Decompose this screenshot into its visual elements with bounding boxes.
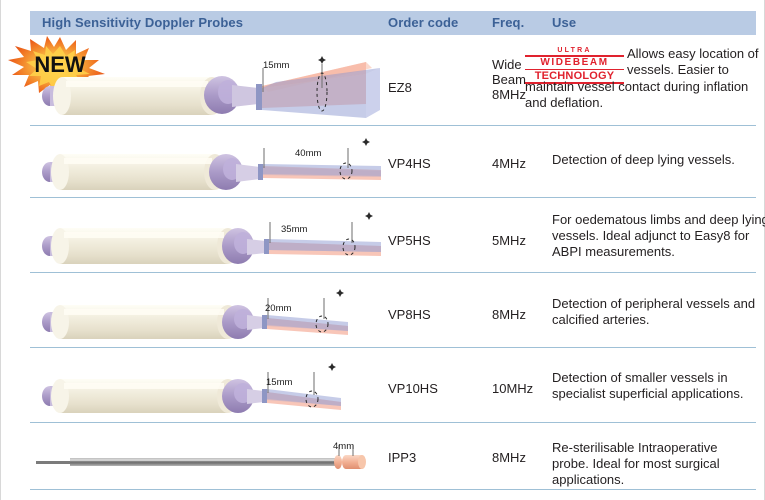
row-divider-6 bbox=[30, 489, 756, 490]
order-code-vp10hs: VP10HS bbox=[388, 382, 438, 395]
probe-illustration-vp4hs bbox=[36, 136, 386, 198]
probe-illustration-vp5hs bbox=[36, 210, 386, 272]
dimension-label-vp4hs: 40mm bbox=[295, 148, 321, 159]
table-title: High Sensitivity Doppler Probes bbox=[42, 15, 243, 30]
row-divider-5 bbox=[30, 422, 756, 423]
column-header-freq: Freq. bbox=[492, 15, 524, 30]
dimension-label-ez8: 15mm bbox=[263, 60, 289, 71]
freq-vp8hs: 8MHz bbox=[492, 308, 526, 321]
use-vp5hs: For oedematous limbs and deep lying vess… bbox=[552, 212, 765, 260]
logo-line-widebeam: WIDEBEAM bbox=[525, 57, 624, 69]
row-divider-1 bbox=[30, 125, 756, 126]
use-ipp3: Re-sterilisable Intraoperative probe. Id… bbox=[552, 440, 757, 488]
dimension-label-vp8hs: 20mm bbox=[265, 303, 291, 314]
order-code-ipp3: IPP3 bbox=[388, 451, 416, 464]
page-left-edge bbox=[0, 0, 1, 500]
probe-illustration-vp10hs bbox=[36, 362, 386, 422]
freq-vp10hs: 10MHz bbox=[492, 382, 533, 395]
order-code-vp4hs: VP4HS bbox=[388, 157, 431, 170]
freq-vp4hs: 4MHz bbox=[492, 157, 526, 170]
use-ez8-line1: Allows easy location of vessels. Easier … bbox=[627, 46, 759, 78]
dimension-label-vp5hs: 35mm bbox=[281, 224, 307, 235]
order-code-ez8: EZ8 bbox=[388, 81, 412, 94]
row-divider-2 bbox=[30, 197, 756, 198]
use-vp10hs: Detection of smaller vessels in speciali… bbox=[552, 370, 757, 402]
product-table-page: High Sensitivity Doppler Probes Order co… bbox=[0, 0, 765, 500]
row-divider-4 bbox=[30, 347, 756, 348]
probe-illustration-ez8 bbox=[36, 52, 386, 124]
column-header-use: Use bbox=[552, 15, 576, 30]
dimension-label-vp10hs: 15mm bbox=[266, 377, 292, 388]
table-header-bar: High Sensitivity Doppler Probes Order co… bbox=[30, 11, 756, 35]
freq-vp5hs: 5MHz bbox=[492, 234, 526, 247]
depth-marker-icon bbox=[328, 363, 336, 371]
freq-ipp3: 8MHz bbox=[492, 451, 526, 464]
use-vp8hs: Detection of peripheral vessels and calc… bbox=[552, 296, 757, 328]
column-header-order-code: Order code bbox=[388, 15, 458, 30]
depth-marker-icon bbox=[336, 289, 344, 297]
use-vp4hs: Detection of deep lying vessels. bbox=[552, 152, 757, 168]
use-ez8-rest: maintain vessel contact during inflation… bbox=[525, 79, 757, 111]
order-code-vp5hs: VP5HS bbox=[388, 234, 431, 247]
row-divider-3 bbox=[30, 272, 756, 273]
order-code-vp8hs: VP8HS bbox=[388, 308, 431, 321]
depth-marker-icon bbox=[362, 138, 370, 146]
dimension-label-ipp3: 4mm bbox=[333, 441, 354, 452]
depth-marker-icon bbox=[318, 56, 326, 64]
depth-marker-icon bbox=[365, 212, 373, 220]
logo-line-ultra: ULTRA bbox=[525, 47, 624, 55]
probe-illustration-vp8hs bbox=[36, 288, 386, 348]
